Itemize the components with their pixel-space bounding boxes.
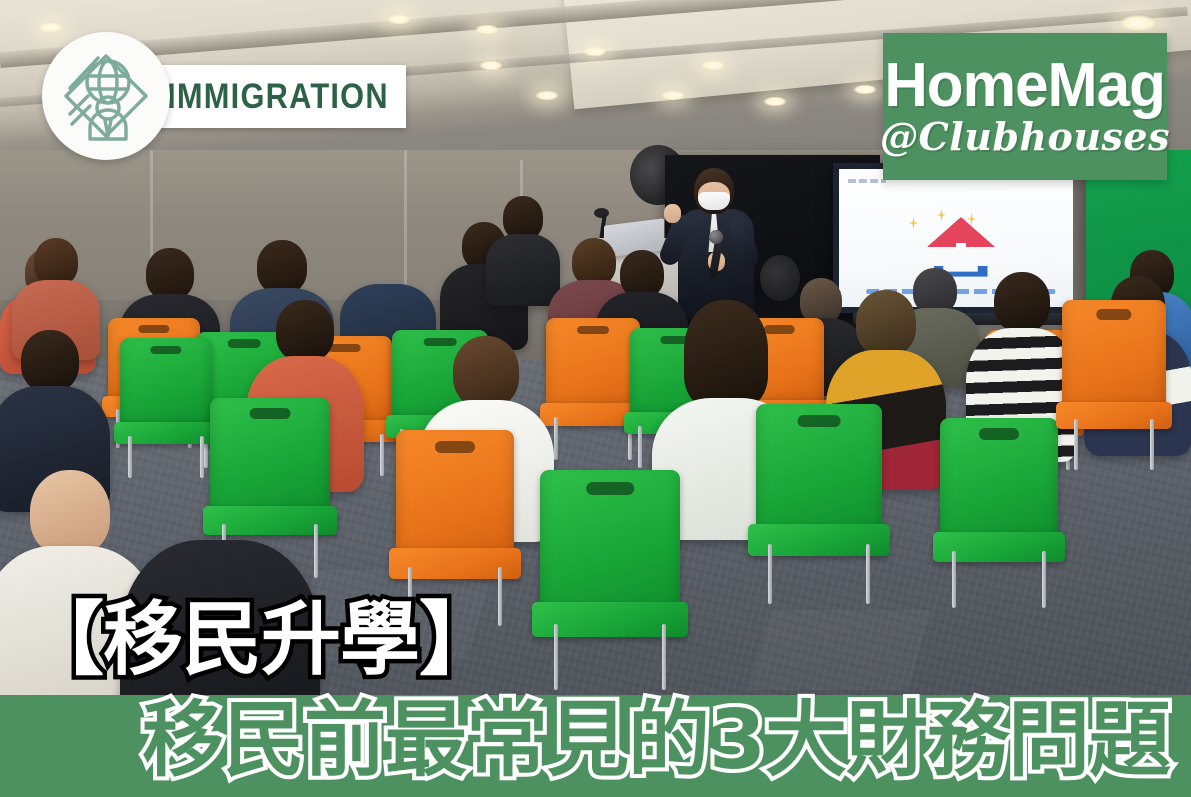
immigration-badge-label: IMMIGRATION — [167, 77, 389, 117]
person-head — [34, 238, 78, 286]
ceiling-spotlight — [478, 60, 504, 71]
ceiling-spotlight — [762, 96, 788, 107]
chair-leg — [554, 417, 558, 460]
carpet-tile — [749, 610, 932, 690]
immigration-logo-circle — [42, 32, 170, 160]
chair-leg — [1074, 419, 1078, 470]
immigration-globe-person-document-icon — [54, 44, 158, 148]
chair-back — [540, 470, 680, 620]
chair — [120, 338, 212, 478]
presenter-hand-left — [664, 204, 681, 223]
person-head — [276, 300, 334, 362]
chair-back — [1062, 300, 1166, 416]
person-head — [21, 330, 79, 392]
chair-back — [546, 318, 640, 415]
ceiling-spotlight — [700, 60, 726, 71]
chair-leg — [554, 624, 558, 690]
person-head — [856, 290, 916, 356]
chair-back — [120, 338, 212, 433]
homemag-logo: HomeMag @Clubhouses — [883, 33, 1167, 180]
person-head — [365, 240, 411, 290]
chair-handle-slot — [435, 441, 475, 453]
person-head — [684, 300, 768, 408]
chair-back — [396, 430, 514, 563]
ceiling-spotlight — [474, 24, 500, 35]
person-head — [453, 336, 519, 408]
chair-back — [756, 404, 882, 540]
homemag-tagline: @Clubhouses — [880, 118, 1170, 156]
person-head — [30, 470, 110, 556]
ceiling-spotlight — [1118, 14, 1158, 32]
slide-house-window — [956, 243, 966, 249]
chair-handle-slot — [979, 428, 1019, 440]
chair-leg — [662, 624, 666, 690]
chair-leg — [498, 567, 502, 626]
immigration-badge-banner: IMMIGRATION — [150, 65, 406, 128]
chair-leg — [768, 544, 772, 604]
chair-handle-slot — [1096, 309, 1131, 319]
presenter-microphone-head — [709, 230, 723, 244]
chair-handle-slot — [150, 346, 181, 355]
person-head — [257, 240, 307, 294]
ceiling-spotlight — [534, 90, 560, 101]
chair — [540, 470, 680, 690]
ceiling-spotlight — [38, 22, 64, 33]
chair-leg — [1150, 419, 1154, 470]
person-head — [146, 248, 194, 300]
chair-handle-slot — [138, 325, 169, 333]
headline-line-2: 移民前最常見的3大財務問題 — [142, 695, 1170, 787]
slide-sparkle-icon — [909, 217, 918, 229]
chair — [1062, 300, 1166, 470]
chair-leg — [380, 434, 384, 476]
chair-handle-slot — [250, 408, 291, 419]
chair-leg — [866, 544, 870, 604]
chair — [756, 404, 882, 604]
chair-leg — [200, 436, 204, 478]
ceiling-spotlight — [660, 90, 686, 101]
person-head — [620, 250, 664, 298]
chair-leg — [952, 551, 956, 608]
chair — [546, 318, 640, 460]
chair-back — [940, 418, 1058, 547]
presenter-face-mask — [698, 192, 730, 210]
ceiling-spotlight — [852, 84, 878, 95]
chair-handle-slot — [798, 415, 841, 427]
headline-line-1: 【移民升學】 — [24, 600, 498, 680]
slide-corner-text — [848, 179, 886, 183]
chair-leg — [1042, 551, 1046, 608]
ceiling-spotlight — [386, 14, 412, 25]
ceiling-spotlight — [582, 46, 608, 57]
person-head — [994, 272, 1050, 332]
chair-leg — [638, 426, 642, 468]
chair-back — [210, 398, 330, 520]
chair — [940, 418, 1058, 608]
chair-handle-slot — [586, 482, 634, 495]
chair-handle-slot — [577, 326, 609, 335]
poster-canvas: IMMIGRATION — [0, 0, 1191, 797]
homemag-title: HomeMag — [885, 57, 1166, 114]
